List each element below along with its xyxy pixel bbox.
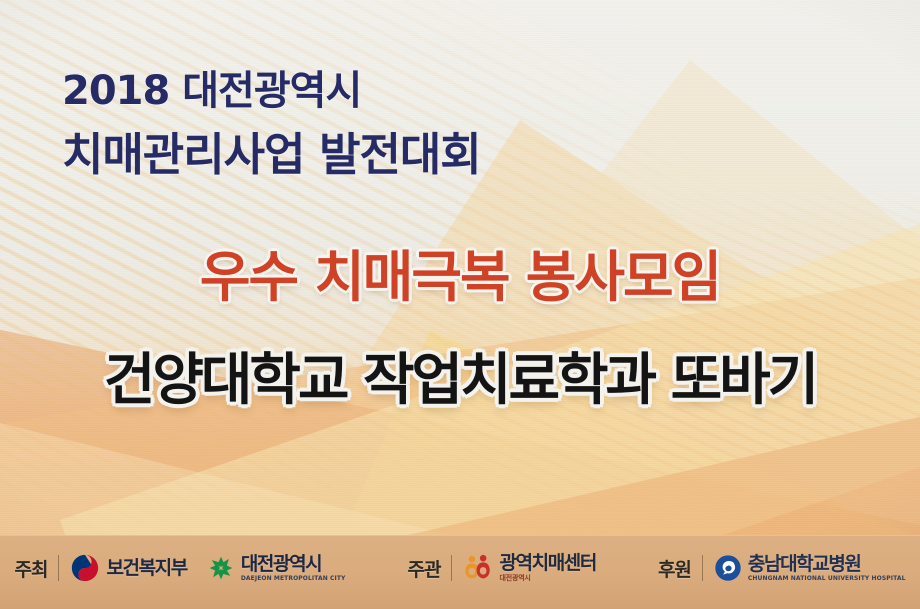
circle-c-icon	[714, 554, 742, 582]
logo-mohw-name-ko: 보건복지부	[106, 559, 186, 578]
logo-dementia-center: 광역치매센터 대전광역시	[463, 553, 595, 583]
divider	[58, 555, 59, 581]
event-title-line-2: 치매관리사업 발전대회	[62, 118, 481, 183]
logo-cnuh-name-ko: 충남대학교병원	[748, 555, 906, 574]
pinwheel-icon	[207, 554, 235, 582]
logo-mohw-text: 보건복지부	[106, 559, 186, 578]
logo-cnuh: 충남대학교병원 CHUNGNAM NATIONAL UNIVERSITY HOS…	[714, 554, 906, 582]
organizer-label: 주관	[408, 555, 441, 582]
divider	[451, 555, 452, 581]
logo-dementia-center-name-ko: 광역치매센터	[499, 554, 595, 573]
two-figures-icon	[463, 553, 493, 583]
logo-daejeon-name-en: DAEJEON METROPOLITAN CITY	[241, 576, 346, 582]
organizer-group: 주관 광역치매센터 대전광역시	[408, 553, 596, 583]
event-title-line-1: 2018 대전광역시	[62, 58, 361, 116]
logo-cnuh-name-en: CHUNGNAM NATIONAL UNIVERSITY HOSPITAL	[748, 576, 906, 582]
logo-cnuh-text: 충남대학교병원 CHUNGNAM NATIONAL UNIVERSITY HOS…	[748, 555, 906, 582]
sponsor-group: 후원 충남대학교병원 CHUNGNAM NATIONAL UNIVERSITY …	[658, 554, 906, 582]
recipient-organization-text: 건양대학교 작업치료학과 또바기	[104, 335, 816, 416]
logo-mohw: 보건복지부	[70, 553, 186, 583]
sponsor-label: 후원	[658, 555, 691, 582]
logo-daejeon-text: 대전광역시 DAEJEON METROPOLITAN CITY	[241, 555, 346, 582]
taegeuk-icon	[70, 553, 100, 583]
logo-daejeon: 대전광역시 DAEJEON METROPOLITAN CITY	[207, 554, 346, 582]
award-category-text: 우수 치매극복 봉사모임	[200, 232, 720, 312]
divider	[702, 555, 703, 581]
logo-dementia-center-sub: 대전광역시	[499, 575, 595, 582]
host-group: 주최 보건복지부	[14, 553, 186, 583]
logo-daejeon-name-ko: 대전광역시	[241, 555, 346, 574]
host-label: 주최	[14, 555, 47, 582]
daejeon-group: 대전광역시 DAEJEON METROPOLITAN CITY	[207, 554, 346, 582]
award-banner: 2018 대전광역시 치매관리사업 발전대회 우수 치매극복 봉사모임 건양대학…	[0, 0, 920, 609]
footer-sponsor-bar: 주최 보건복지부	[0, 535, 920, 609]
logo-dementia-center-text: 광역치매센터 대전광역시	[499, 554, 595, 582]
